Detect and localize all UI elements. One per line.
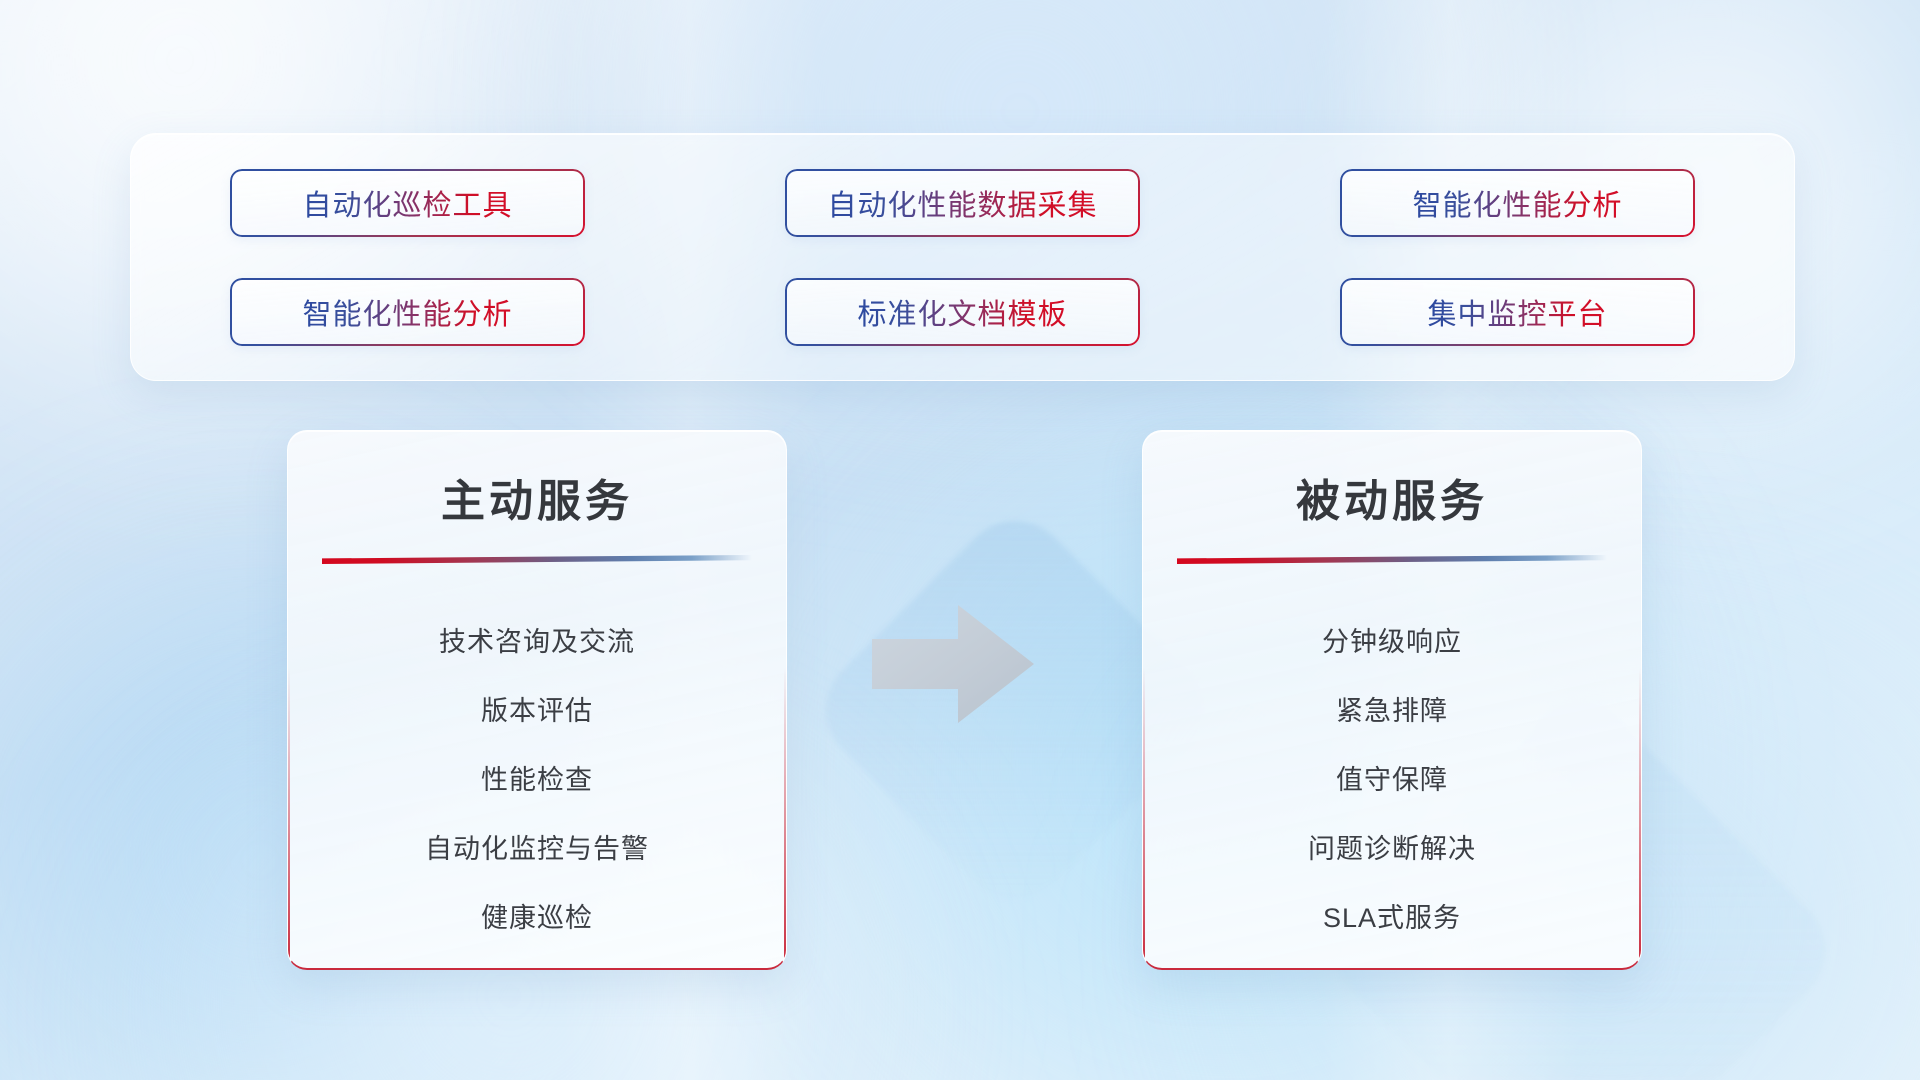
card-title: 主动服务 — [288, 465, 786, 529]
capability-tag[interactable]: 自动化巡检工具 — [230, 169, 585, 237]
capability-tag-label: 自动化巡检工具 — [302, 182, 512, 224]
capability-tag-grid: 自动化巡检工具 自动化性能数据采集 智能化性能分析 智能化性能分析 标准化文档模… — [171, 162, 1754, 352]
capability-tag[interactable]: 智能化性能分析 — [1340, 169, 1695, 237]
service-card-proactive: 主动服务 技术咨询及交流 版本评估 性能检查 自动化监控与告警 健康巡检 — [287, 430, 787, 970]
capability-tag-label: 自动化性能数据采集 — [827, 182, 1097, 224]
card-title-divider — [322, 555, 752, 564]
card-item-list: 分钟级响应 紧急排障 值守保障 问题诊断解决 SLA式服务 — [1143, 608, 1641, 953]
capability-tag[interactable]: 自动化性能数据采集 — [785, 169, 1140, 237]
list-item: 自动化监控与告警 — [288, 815, 786, 884]
list-item: 值守保障 — [1143, 746, 1641, 815]
list-item: 版本评估 — [288, 677, 786, 746]
list-item: 问题诊断解决 — [1143, 815, 1641, 884]
capability-tag-label: 集中监控平台 — [1427, 291, 1607, 333]
capability-tag[interactable]: 智能化性能分析 — [230, 278, 585, 346]
capability-tag-label: 标准化文档模板 — [857, 291, 1067, 333]
capabilities-panel: 自动化巡检工具 自动化性能数据采集 智能化性能分析 智能化性能分析 标准化文档模… — [130, 133, 1795, 381]
arrow-right-icon — [872, 605, 1034, 723]
capability-tag[interactable]: 集中监控平台 — [1340, 278, 1695, 346]
card-title-divider — [1177, 555, 1607, 564]
card-item-list: 技术咨询及交流 版本评估 性能检查 自动化监控与告警 健康巡检 — [288, 608, 786, 953]
capability-tag-label: 智能化性能分析 — [302, 291, 512, 333]
list-item: 健康巡检 — [288, 884, 786, 953]
capability-tag[interactable]: 标准化文档模板 — [785, 278, 1140, 346]
list-item: 技术咨询及交流 — [288, 608, 786, 677]
list-item: 分钟级响应 — [1143, 608, 1641, 677]
list-item: SLA式服务 — [1143, 884, 1641, 953]
service-card-reactive: 被动服务 分钟级响应 紧急排障 值守保障 问题诊断解决 SLA式服务 — [1142, 430, 1642, 970]
list-item: 紧急排障 — [1143, 677, 1641, 746]
list-item: 性能检查 — [288, 746, 786, 815]
capability-tag-label: 智能化性能分析 — [1412, 182, 1622, 224]
card-title: 被动服务 — [1143, 465, 1641, 529]
